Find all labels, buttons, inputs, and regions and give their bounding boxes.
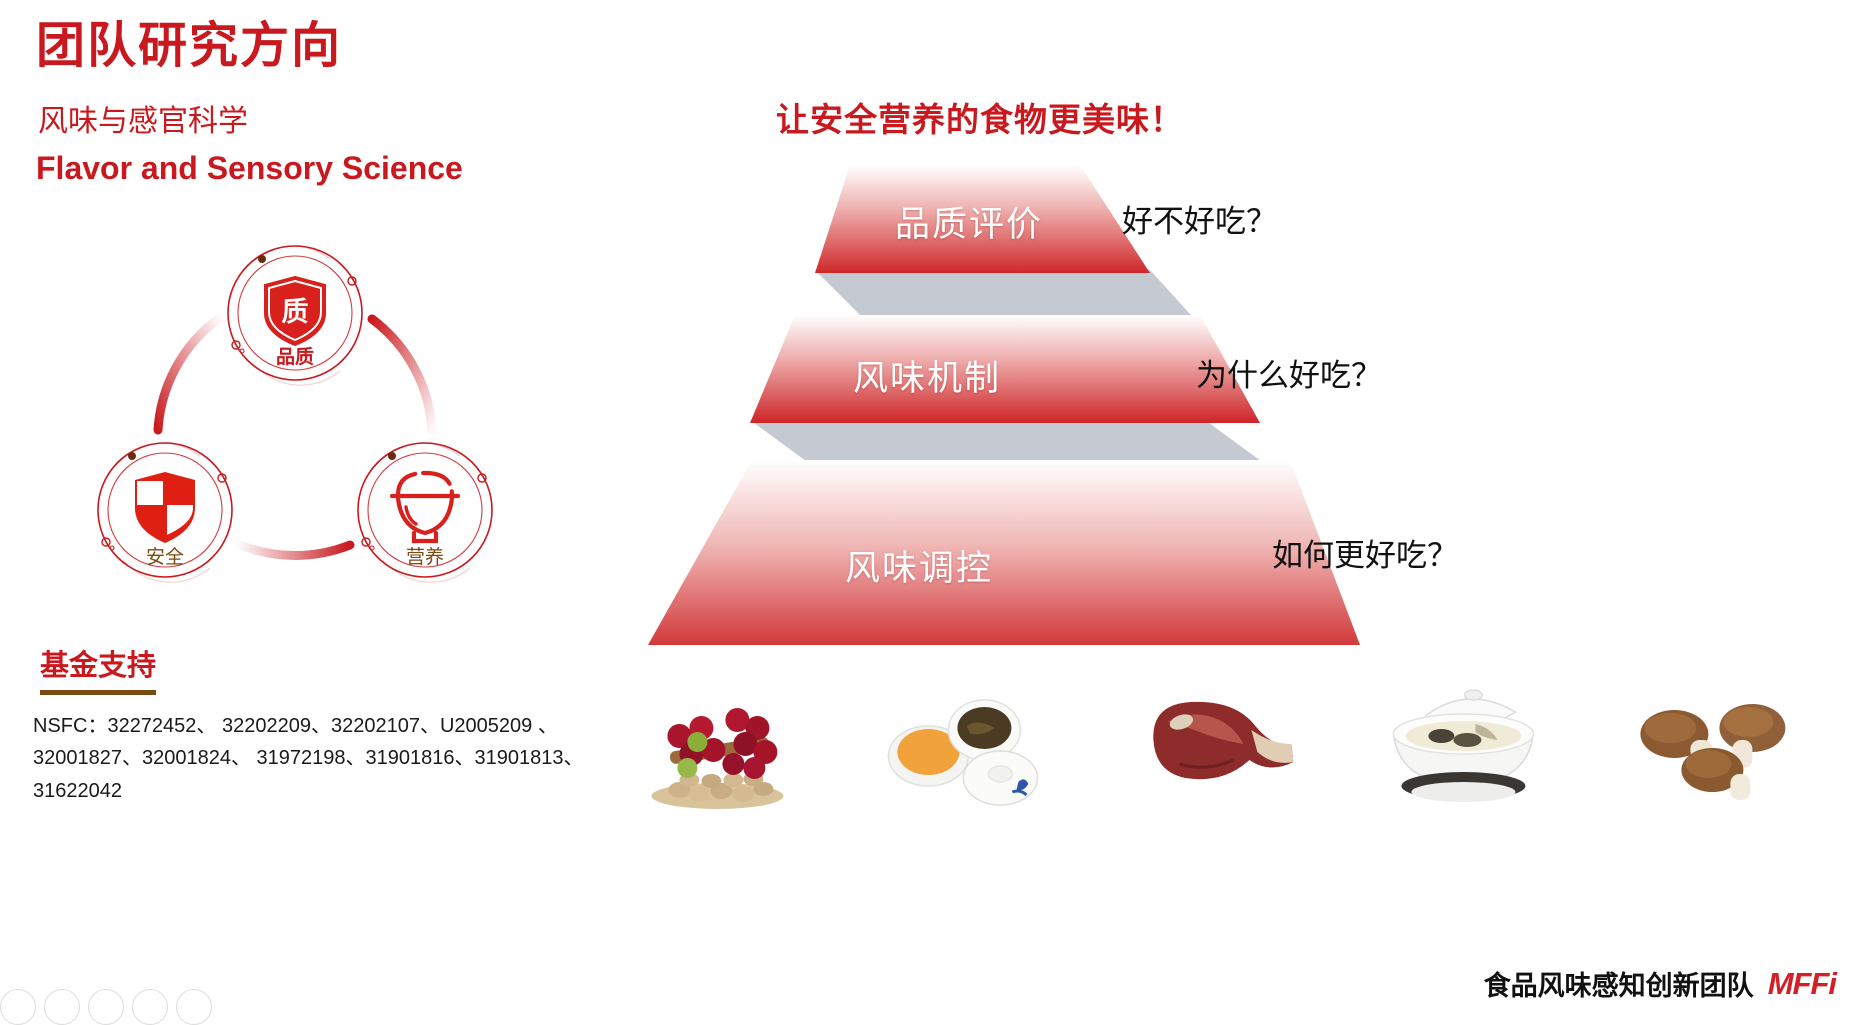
tea-leaves-bowl: [948, 700, 1020, 760]
pyramid-question-middle: 为什么好吃？: [1196, 350, 1382, 395]
fund-support-heading: 基金支持: [40, 642, 156, 695]
team-logo-text: 食品风味感知创新团队: [1484, 964, 1754, 1003]
pyramid-level-middle: [750, 315, 1260, 423]
subtitle-chinese: 风味与感官科学: [38, 96, 248, 140]
pyramid-question-bottom: 如何更好吃？: [1272, 530, 1458, 575]
fund-grant-numbers: NSFC：32272452、 32202209、32202107、U200520…: [33, 710, 603, 807]
three-circle-diagram: 质 品质 安全: [40, 215, 560, 615]
circle-node-quality: 质 品质: [228, 246, 362, 385]
fund-line: 31622042: [33, 775, 603, 807]
tea-bowl-photo: [849, 678, 1084, 813]
decorative-dot: [176, 989, 212, 1025]
circle-label-safety: 安全: [146, 546, 184, 568]
mushroom-group: [1641, 704, 1786, 800]
team-logo: 食品风味感知创新团队 MFFi: [1484, 964, 1836, 1003]
circle-label-nutrition: 营养: [406, 546, 444, 568]
circle-label-quality: 品质: [276, 346, 314, 368]
pyramid-label-bottom: 风味调控: [845, 540, 993, 591]
circle-node-safety: 安全: [98, 443, 232, 582]
decorative-dot: [132, 989, 168, 1025]
pyramid-headline: 让安全营养的食物更美味！: [776, 93, 1184, 141]
decorative-dot: [88, 989, 124, 1025]
jamon-leg: [1153, 702, 1293, 779]
decorative-dots: [0, 989, 212, 1025]
decorative-dot: [44, 989, 80, 1025]
team-logo-mark: MFFi: [1768, 966, 1836, 1002]
subtitle-english: Flavor and Sensory Science: [36, 150, 463, 187]
pyramid-question-top: 好不好吃？: [1122, 196, 1277, 241]
food-photo-strip: [600, 678, 1830, 813]
fund-line: NSFC：32272452、 32202209、32202107、U200520…: [33, 710, 603, 742]
pyramid-level-bottom: [648, 460, 1360, 645]
porcelain-lid: [963, 751, 1037, 805]
pyramid-label-middle: 风味机制: [853, 350, 1001, 401]
page-title: 团队研究方向: [36, 6, 342, 77]
svg-text:质: 质: [282, 297, 309, 327]
red-coffee-cherries: [667, 708, 777, 779]
shiitake-mushroom-photo: [1595, 678, 1830, 813]
coffee-cherries-photo: [600, 678, 835, 813]
fund-line: 32001827、32001824、 31972198、31901816、319…: [33, 742, 603, 774]
circle-node-nutrition: 营养: [358, 443, 492, 582]
oyster-soup-pot-photo: [1346, 678, 1581, 813]
soup-pot: [1394, 714, 1534, 802]
coffee-beans-pile: [651, 772, 783, 809]
pyramid-label-top: 品质评价: [895, 196, 1043, 247]
decorative-dot: [0, 989, 36, 1025]
cured-ham-photo: [1098, 678, 1333, 813]
